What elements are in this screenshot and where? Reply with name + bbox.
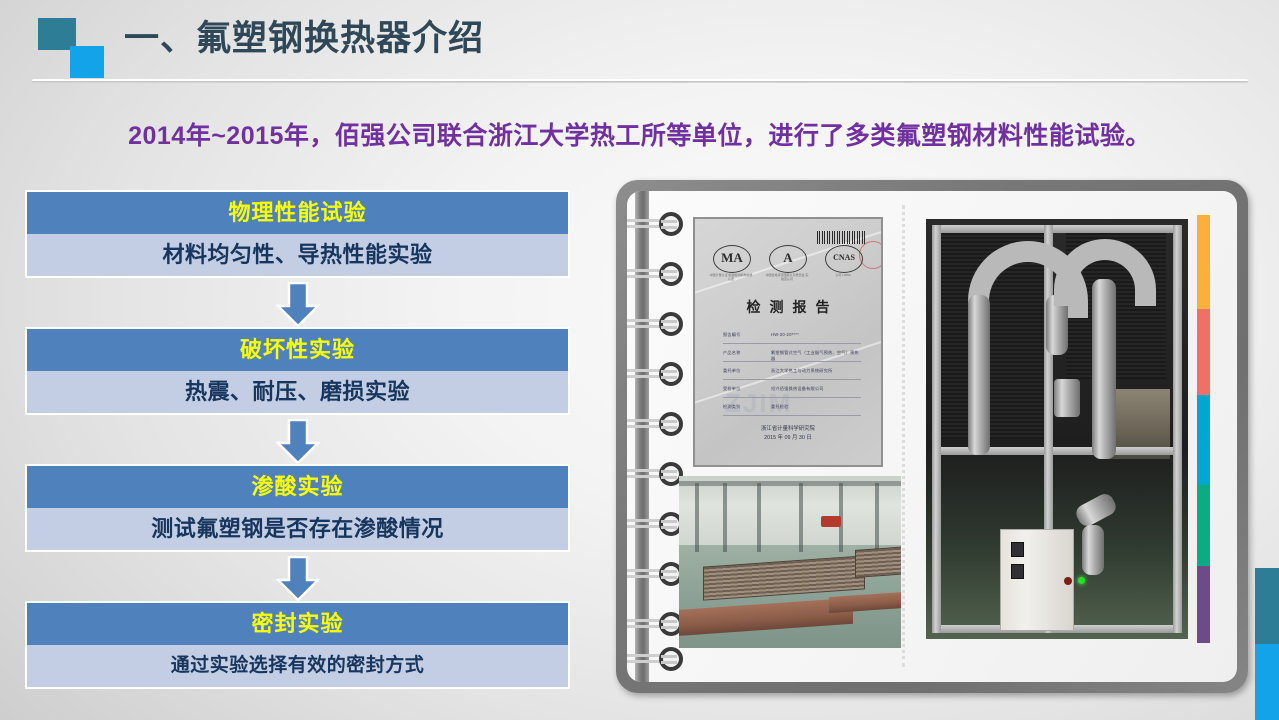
flow-step-2-description: 热震、耐压、磨损实验	[27, 371, 568, 413]
color-strip-segment-teal	[1197, 485, 1210, 566]
report-field-row: 产品名称 氟塑钢管式空气（工业烟气预热、空气）预热器	[723, 349, 861, 362]
photo-indicator-lamp-green	[1078, 577, 1085, 584]
cma-mark-icon: MA	[713, 245, 751, 273]
report-title: 检测报告	[695, 297, 881, 317]
color-strip-segment-salmon	[1197, 309, 1210, 395]
report-field-value: 浙江大学热工与动力系统研究所	[771, 368, 832, 374]
test-apparatus-photo[interactable]	[926, 219, 1188, 639]
photo-insulated-duct	[968, 295, 990, 455]
cal-mark-icon: A	[769, 245, 807, 273]
color-strip-segment-orange	[1197, 215, 1210, 309]
flow-step-2[interactable]: 破坏性实验 热震、耐压、磨损实验	[27, 329, 568, 413]
flow-step-2-title: 破坏性实验	[27, 329, 568, 371]
corner-accent-bright-icon	[1255, 644, 1279, 720]
photo-column	[695, 483, 699, 552]
cma-mark-subtext: 中国计量认证 检验检测机构资质认定	[709, 273, 753, 281]
flow-step-4-description: 通过实验选择有效的密封方式	[27, 645, 568, 687]
photo-rig-frame-top	[932, 225, 1182, 233]
photo-region-roof	[679, 476, 901, 548]
certification-marks: MA 中国计量认证 检验检测机构资质认定 A 中国合格评定国家认可委员会 实验室…	[713, 245, 865, 283]
flow-step-1-description: 材料均匀性、导热性能实验	[27, 234, 568, 276]
process-flow-chart: 物理性能试验 材料均匀性、导热性能实验 破坏性实验 热震、耐压、磨损实验 渗酸实…	[27, 192, 572, 692]
photo-tube-bundle	[855, 546, 901, 578]
report-issuer-block: 浙江省计量科学研究院 2015 年 09 月 30 日	[695, 425, 881, 443]
report-field-value: 氟塑钢管式空气（工业烟气预热、空气）预热器	[771, 350, 861, 362]
cnas-mark-subtext: 认可 L0000	[821, 273, 865, 277]
report-field-label: 检测类别	[723, 404, 741, 410]
corner-accent-decor	[1255, 568, 1279, 720]
flow-arrow-1-to-2	[276, 282, 320, 328]
photo-column	[723, 483, 727, 552]
subtitle-text: 2014年~2015年，佰强公司联合浙江大学热工所等单位，进行了多类氟塑钢材料性…	[0, 116, 1279, 152]
binding-ring-icon	[627, 311, 685, 337]
barcode-icon	[817, 231, 865, 244]
flow-step-4-title: 密封实验	[27, 603, 568, 645]
flow-step-1-title: 物理性能试验	[27, 192, 568, 234]
decor-square-bright-icon	[70, 46, 104, 78]
flow-arrow-3-to-4	[276, 556, 320, 602]
report-field-row: 检测类别 委托检验	[723, 403, 861, 416]
binding-ring-icon	[627, 561, 685, 587]
report-field-value: HW-20-20****	[771, 332, 799, 337]
flow-step-1[interactable]: 物理性能试验 材料均匀性、导热性能实验	[27, 192, 568, 276]
binding-ring-icon	[627, 411, 685, 437]
report-field-label: 委托单位	[723, 368, 741, 374]
photo-rig-post	[932, 225, 941, 633]
corner-accent-dark-icon	[1255, 568, 1279, 644]
cnas-mark-icon: CNAS	[825, 245, 863, 273]
photo-insulated-duct	[1092, 279, 1116, 459]
report-field-value: 绍兴佰强换热设备有限公司	[771, 386, 824, 392]
report-field-label: 产品名称	[723, 350, 741, 356]
flow-step-3[interactable]: 渗酸实验 测试氟塑钢是否存在渗酸情况	[27, 466, 568, 550]
photo-gauge-icon	[1011, 542, 1024, 557]
report-issuer-name: 浙江省计量科学研究院	[695, 425, 881, 434]
photo-control-cabinet	[1000, 529, 1074, 631]
report-issue-date: 2015 年 09 月 30 日	[695, 434, 881, 443]
binding-ring-icon	[627, 261, 685, 287]
photo-rig-post	[1173, 225, 1182, 633]
binding-ring-icon	[627, 611, 685, 637]
report-field-label: 报告编号	[723, 332, 741, 338]
slide-canvas: 一、氟塑钢换热器介绍 2014年~2015年，佰强公司联合浙江大学热工所等单位，…	[0, 0, 1279, 720]
report-field-label: 受检单位	[723, 386, 741, 392]
photo-insulated-duct	[1082, 525, 1104, 575]
notebook-page: MA 中国计量认证 检验检测机构资质认定 A 中国合格评定国家认可委员会 实验室…	[627, 191, 1237, 682]
flow-step-3-title: 渗酸实验	[27, 466, 568, 508]
color-strip-segment-purple	[1197, 566, 1210, 643]
report-field-row: 报告编号 HW-20-20****	[723, 331, 861, 344]
photo-column	[799, 483, 803, 552]
page-title: 一、氟塑钢换热器介绍	[124, 17, 484, 61]
title-divider	[32, 79, 1248, 83]
binding-ring-icon	[627, 646, 685, 672]
binding-ring-icon	[627, 461, 685, 487]
notebook-page-divider	[902, 205, 905, 667]
photo-column	[875, 483, 879, 552]
report-field-row: 受检单位 绍兴佰强换热设备有限公司	[723, 385, 861, 398]
photo-gauge-icon	[1011, 564, 1024, 579]
photo-column	[757, 483, 761, 552]
header-decor-squares	[38, 18, 122, 80]
photo-blower-unit	[1054, 379, 1080, 417]
binding-ring-icon	[627, 211, 685, 237]
color-accent-strip	[1197, 215, 1210, 643]
binding-ring-icon	[627, 511, 685, 537]
photo-roof-beam	[679, 481, 901, 486]
photo-red-machine	[821, 516, 841, 527]
report-field-row: 委托单位 浙江大学热工与动力系统研究所	[723, 367, 861, 380]
color-strip-segment-cyan	[1197, 395, 1210, 485]
notebook-panel: MA 中国计量认证 检验检测机构资质认定 A 中国合格评定国家认可委员会 实验室…	[616, 180, 1248, 693]
factory-floor-photo[interactable]	[679, 476, 901, 648]
test-report-photo[interactable]: MA 中国计量认证 检验检测机构资质认定 A 中国合格评定国家认可委员会 实验室…	[693, 217, 883, 467]
cal-mark-subtext: 中国合格评定国家认可委员会 实验室认可	[765, 273, 809, 281]
binding-ring-icon	[627, 361, 685, 387]
report-field-value: 委托检验	[771, 404, 789, 410]
photo-indicator-lamp-red	[1064, 577, 1072, 585]
flow-arrow-2-to-3	[276, 419, 320, 465]
flow-step-3-description: 测试氟塑钢是否存在渗酸情况	[27, 508, 568, 550]
flow-step-4[interactable]: 密封实验 通过实验选择有效的密封方式	[27, 603, 568, 687]
